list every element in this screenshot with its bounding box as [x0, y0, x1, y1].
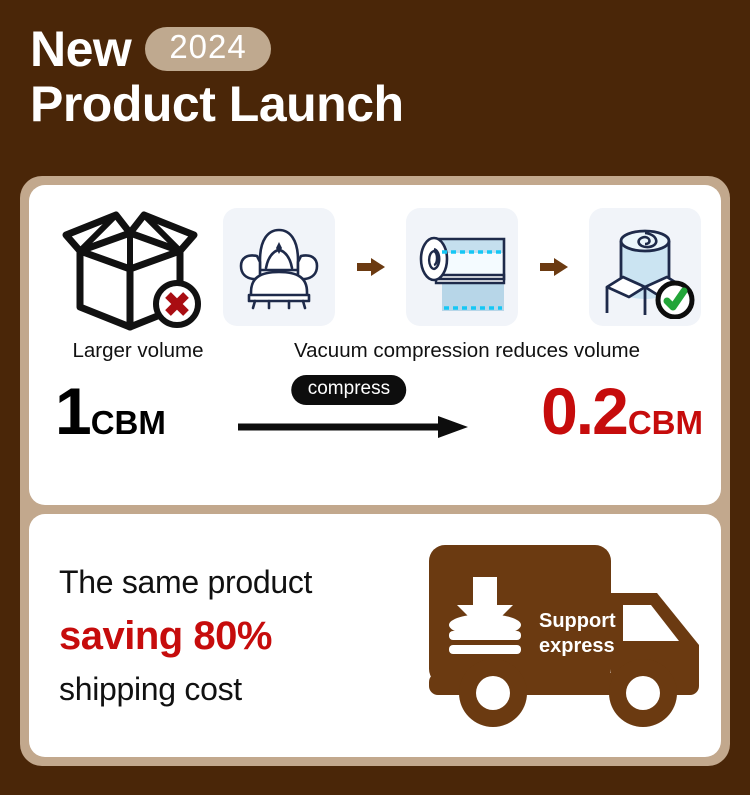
long-arrow-right-icon: [238, 415, 468, 439]
shipping-saving-inner: The same product saving 80% shipping cos…: [29, 514, 721, 757]
saving-line-2-highlight: saving 80%: [59, 607, 419, 665]
saving-line-3: shipping cost: [59, 665, 419, 714]
saving-text-block: The same product saving 80% shipping cos…: [59, 558, 419, 713]
title-line-2: Product Launch: [30, 77, 750, 131]
page-header: New 2024 Product Launch: [0, 0, 750, 131]
truck-label-line-1: Support: [539, 609, 616, 634]
icon-row: [29, 185, 721, 335]
cbm-after-value: 0.2: [541, 378, 627, 444]
open-box-icon: [58, 203, 208, 331]
rolled-vacuum-bag-icon: [412, 217, 512, 317]
shipping-saving-card: The same product saving 80% shipping cos…: [29, 514, 721, 757]
sofa-armchair-icon: [233, 224, 325, 310]
step-tile-rolled-bag: [406, 208, 518, 326]
page-title-new: New: [30, 22, 131, 76]
rolled-item-in-box-icon: [593, 215, 697, 319]
red-x-badge: [156, 283, 198, 325]
arrow-separator-2: [537, 258, 571, 276]
cbm-before-value: 1: [55, 378, 90, 444]
open-box-icon-wrapper: [43, 203, 223, 331]
truck-label-line-2: express: [539, 634, 616, 659]
arrow-right-icon: [357, 258, 385, 276]
step-tile-boxed: [589, 208, 701, 326]
compression-card: Larger volume Vacuum compression reduces…: [29, 185, 721, 505]
cbm-before: 1 CBM: [55, 378, 166, 444]
compress-arrow-block: compress: [166, 375, 541, 447]
caption-larger-volume: Larger volume: [43, 339, 233, 363]
cbm-comparison-row: 1 CBM compress 0.2 CBM: [29, 363, 721, 447]
title-line-1: New 2024: [30, 22, 750, 76]
compress-badge: compress: [292, 375, 406, 405]
truck-illustration: Support express: [419, 535, 713, 736]
page-title-product-launch: Product Launch: [30, 77, 404, 131]
arrow-right-icon: [540, 258, 568, 276]
process-steps: [223, 208, 707, 326]
year-badge: 2024: [145, 27, 270, 70]
content-frame: Larger volume Vacuum compression reduces…: [20, 176, 730, 766]
saving-line-1: The same product: [59, 558, 419, 607]
arrow-separator-1: [354, 258, 388, 276]
green-check-badge: [658, 283, 692, 317]
cbm-after: 0.2 CBM: [541, 378, 703, 444]
step-tile-sofa: [223, 208, 335, 326]
cbm-after-unit: CBM: [628, 406, 703, 439]
cbm-before-unit: CBM: [91, 406, 166, 439]
caption-row: Larger volume Vacuum compression reduces…: [29, 335, 721, 363]
caption-vacuum-compression: Vacuum compression reduces volume: [233, 339, 707, 363]
truck-label: Support express: [539, 609, 616, 659]
